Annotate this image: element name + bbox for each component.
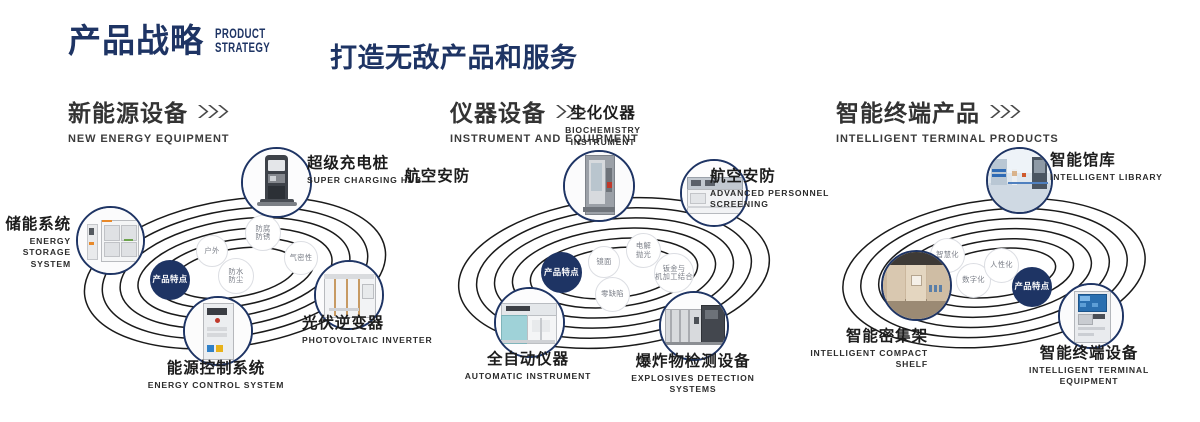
feature-bubble: 镜面	[588, 246, 620, 278]
node-label-automatic-instrument: 全自动仪器 AUTOMATIC INSTRUMENT	[448, 351, 608, 382]
energy-storage-cabinet-art	[78, 208, 143, 273]
section-heading-intelligent-terminal: 智能终端产品 INTELLIGENT TERMINAL PRODUCTS	[836, 94, 1059, 145]
feature-bubble: 钣金与 机加工结合	[654, 253, 694, 293]
compact-shelf-art	[883, 252, 950, 319]
section-heading-english: NEW ENERGY EQUIPMENT	[68, 133, 232, 145]
feature-bubble: 气密性	[284, 241, 318, 275]
node-terminal-equipment[interactable]	[1058, 283, 1124, 349]
section-heading-english: INTELLIGENT TERMINAL PRODUCTS	[836, 133, 1059, 145]
node-label-compact-shelf: 智能密集架 INTELLIGENT COMPACT SHELF	[778, 328, 928, 371]
cluster-intelligent-terminal: 智慧化 数字化 人性化 产品特点 智能馆库 INTELLIGENT	[818, 155, 1168, 385]
cluster-new-energy: 产品特点 户外 防腐 防锈 防水 防尘 气密性 储能系统 ENERGY ST	[55, 155, 415, 385]
product-strategy-infographic: 产品战略 PRODUCT STRATEGY 打造无敌产品和服务 新能源设备 NE…	[0, 0, 1200, 422]
explosive-detector-art	[661, 293, 727, 359]
node-energy-control[interactable]	[183, 296, 253, 366]
automatic-analyzer-art	[496, 289, 563, 356]
node-compact-shelf[interactable]	[881, 250, 952, 321]
node-energy-storage[interactable]	[76, 206, 145, 275]
triple-chevron-right-icon	[990, 105, 1024, 118]
node-label-intelligent-library: 智能馆库 INTELLIGENT LIBRARY	[1050, 152, 1190, 183]
node-label-terminal-equipment: 智能终端设备 INTELLIGENT TERMINAL EQUIPMENT	[1004, 345, 1174, 388]
feature-bubble: 零缺陷	[595, 277, 630, 312]
biochem-scanner-art	[565, 152, 633, 220]
feature-bubble: 防腐 防锈	[245, 215, 281, 251]
section-heading-label: 新能源设备	[68, 94, 188, 128]
node-charging-hub[interactable]	[241, 147, 312, 218]
node-biochemistry-instrument[interactable]	[563, 150, 635, 222]
node-intelligent-library[interactable]	[986, 147, 1053, 214]
node-explosives-detection[interactable]	[659, 291, 729, 361]
side-label-aviation-security: 航空安防	[398, 168, 470, 186]
feature-bubble-main: 产品特点	[150, 260, 190, 300]
node-automatic-instrument[interactable]	[494, 287, 565, 358]
section-heading-label: 智能终端产品	[836, 94, 980, 128]
feature-bubble-main: 产品特点	[541, 252, 582, 293]
library-interior-art	[988, 149, 1051, 212]
feature-bubble: 防水 防尘	[218, 258, 254, 294]
feature-bubble-main: 产品特点	[1012, 267, 1052, 307]
node-label-energy-control: 能源控制系统 ENERGY CONTROL SYSTEM	[133, 360, 299, 391]
node-label-energy-storage: 储能系统 ENERGY STORAGE SYSTEM	[0, 216, 71, 271]
triple-chevron-right-icon	[198, 105, 232, 118]
control-cabinet-art	[185, 298, 251, 364]
page-subtitle: 打造无敌产品和服务	[330, 36, 578, 75]
section-heading-label: 仪器设备	[450, 94, 546, 128]
self-service-kiosk-art	[1060, 285, 1122, 347]
node-label-explosives-detection: 爆炸物检测设备 EXPLOSIVES DETECTION SYSTEMS	[608, 353, 778, 396]
cluster-instrument: 产品特点 镜面 电解 抛光 零缺陷 钣金与 机加工结合 航空安防 生化仪器 BI…	[428, 155, 798, 385]
charging-pile-art	[243, 149, 310, 216]
section-heading-new-energy: 新能源设备 NEW ENERGY EQUIPMENT	[68, 94, 232, 145]
page-title-block: 产品战略 PRODUCT STRATEGY	[68, 24, 292, 57]
page-title: 产品战略	[68, 24, 204, 57]
page-title-english: PRODUCT STRATEGY	[215, 27, 270, 55]
